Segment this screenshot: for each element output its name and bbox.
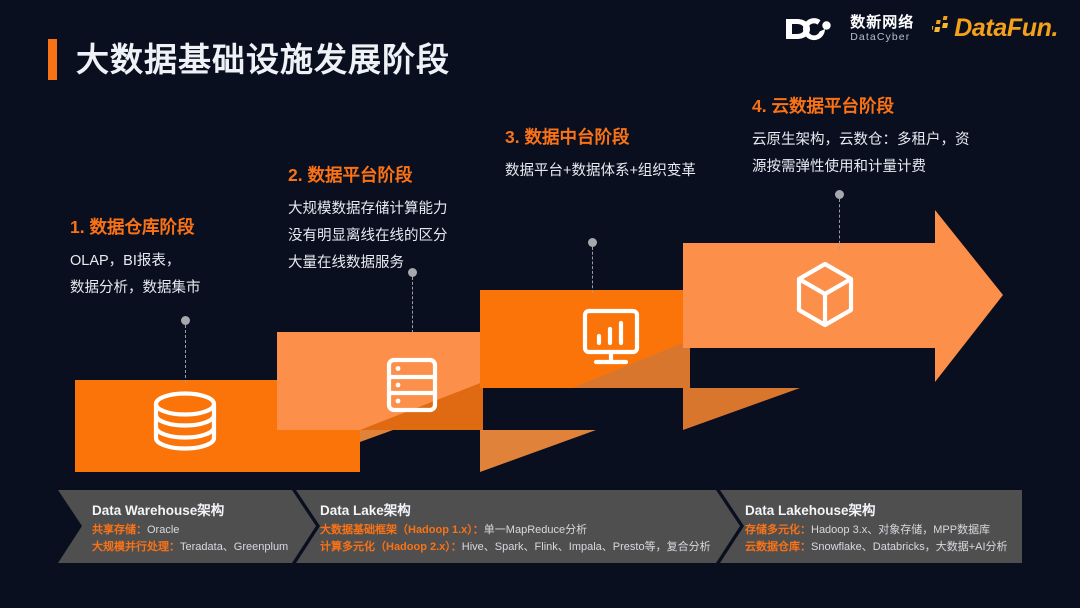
bar-row-key: 存储多元化： (745, 524, 811, 536)
stage-text-1: 1. 数据仓库阶段 OLAP，BI报表， 数据分析，数据集市 (70, 214, 201, 302)
stage-1-line-1: OLAP，BI报表， (70, 248, 201, 275)
bar-row: 大规模并行处理：Teradata、Greenplum (92, 539, 288, 556)
stage-3-heading: 3. 数据中台阶段 (505, 124, 696, 149)
bar-row: 共享存储：Oracle (92, 522, 288, 539)
bar-row: 存储多元化：Hadoop 3.x、对象存储，MPP数据库 (745, 522, 1008, 539)
bar-row-value: 单一MapReduce分析 (484, 524, 587, 536)
connector-dot (588, 238, 597, 247)
stage-2-heading: 2. 数据平台阶段 (288, 162, 448, 187)
stage-1-heading: 1. 数据仓库阶段 (70, 214, 201, 239)
connector-dot (835, 190, 844, 199)
bar-row-value: Teradata、Greenplum (180, 541, 288, 553)
bar-title-warehouse: Data Warehouse架构 (92, 499, 288, 519)
bar-title-lakehouse: Data Lakehouse架构 (745, 499, 1008, 519)
bar-row: 大数据基础框架（Hadoop 1.x）：单一MapReduce分析 (320, 522, 711, 539)
step-4-body-with-arrowhead (683, 210, 1003, 382)
bar-row-key: 共享存储： (92, 524, 147, 536)
bar-label-lake: Data Lake架构 大数据基础框架（Hadoop 1.x）：单一MapRed… (320, 499, 711, 556)
bar-row-key: 云数据仓库： (745, 541, 811, 553)
bar-row-key: 大规模并行处理： (92, 541, 180, 553)
slide-canvas: 大数据基础设施发展阶段 数新网络 DataCyber DataFun. (0, 0, 1080, 608)
stage-2-line-1: 大规模数据存储计算能力 (288, 196, 448, 223)
stage-1-line-2: 数据分析，数据集市 (70, 275, 201, 302)
bar-row-key: 大数据基础框架（Hadoop 1.x）： (320, 524, 484, 536)
connector-dash-line (412, 277, 413, 333)
stage-text-3: 3. 数据中台阶段 数据平台+数据体系+组织变革 (505, 124, 696, 185)
stage-2-line-2: 没有明显离线在线的区分 (288, 223, 448, 250)
connector-dash-line (592, 247, 593, 293)
stage-2-line-3: 大量在线数据服务 (288, 250, 448, 277)
bar-label-warehouse: Data Warehouse架构 共享存储：Oracle 大规模并行处理：Ter… (92, 499, 288, 556)
stage-text-2: 2. 数据平台阶段 大规模数据存储计算能力 没有明显离线在线的区分 大量在线数据… (288, 162, 448, 276)
stage-4-heading: 4. 云数据平台阶段 (752, 93, 970, 118)
bar-row-value: Snowflake、Databricks，大数据+AI分析 (811, 541, 1008, 553)
bar-label-lakehouse: Data Lakehouse架构 存储多元化：Hadoop 3.x、对象存储，M… (745, 499, 1008, 556)
stage-3-line-1: 数据平台+数据体系+组织变革 (505, 158, 696, 185)
stage-4-line-2: 源按需弹性使用和计量计费 (752, 154, 970, 181)
bar-row-value: Oracle (147, 524, 179, 536)
step-3-shadow (480, 430, 596, 472)
connector-dash-line (185, 325, 186, 383)
connector-dot (181, 316, 190, 325)
bar-row-value: Hive、Spark、Flink、Impala、Presto等，复合分析 (462, 541, 711, 553)
bar-row: 计算多元化（Hadoop 2.x）：Hive、Spark、Flink、Impal… (320, 539, 711, 556)
stage-4-line-1: 云原生架构，云数仓：多租户，资 (752, 127, 970, 154)
connector-dash-line (839, 199, 840, 249)
bar-row-key: 计算多元化（Hadoop 2.x）： (320, 541, 462, 553)
stage-text-4: 4. 云数据平台阶段 云原生架构，云数仓：多租户，资 源按需弹性使用和计量计费 (752, 93, 970, 181)
bar-title-lake: Data Lake架构 (320, 499, 711, 519)
bar-row-value: Hadoop 3.x、对象存储，MPP数据库 (811, 524, 990, 536)
bar-row: 云数据仓库：Snowflake、Databricks，大数据+AI分析 (745, 539, 1008, 556)
step-4-shadow (683, 388, 800, 430)
